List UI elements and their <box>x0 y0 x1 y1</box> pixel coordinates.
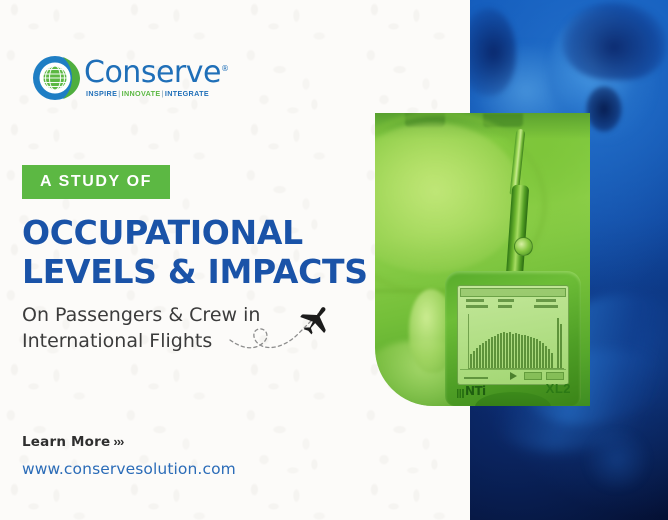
foreground-head-shape <box>470 8 516 96</box>
device-model-label: XL2 <box>546 381 571 396</box>
lcd-readout-text <box>498 305 512 308</box>
device-bottom-curve <box>475 392 551 406</box>
lcd-readout-text <box>498 299 514 302</box>
study-badge: A STUDY OF <box>22 165 170 199</box>
airplane-icon <box>296 299 336 340</box>
tagline-inspire: INSPIRE <box>86 89 117 98</box>
lcd-readout-text <box>466 299 484 302</box>
flight-path-decoration <box>228 296 348 362</box>
lcd-readout-text <box>534 305 558 308</box>
lcd-play-icon <box>510 372 517 380</box>
tagline-separator: | <box>161 89 163 98</box>
chevron-right-icon: ››› <box>113 434 123 449</box>
nti-logo-bars-icon <box>457 389 464 398</box>
tagline-innovate: INNOVATE <box>122 89 161 98</box>
brand-logo[interactable]: Conserve® INSPIRE|INNOVATE|INTEGRATE <box>32 52 208 104</box>
device-brand-label: NTi <box>465 384 486 398</box>
lcd-readout-text <box>466 305 488 308</box>
panel-glow <box>582 430 652 490</box>
passenger-hair-shape <box>562 2 666 80</box>
learn-more-row[interactable]: Learn More››› <box>22 433 236 451</box>
sound-level-meter-device: NTi XL2 <box>445 271 581 406</box>
page-title: OCCUPATIONAL LEVELS & IMPACTS <box>22 214 372 292</box>
lcd-status-text <box>464 377 488 380</box>
brand-tagline: INSPIRE|INNOVATE|INTEGRATE <box>86 89 209 98</box>
lcd-softkey <box>524 372 542 380</box>
device-brand-name: NTi <box>465 384 486 398</box>
sound-meter-photo: NTi XL2 <box>375 113 590 406</box>
tagline-integrate: INTEGRATE <box>165 89 209 98</box>
tagline-separator: | <box>118 89 120 98</box>
lcd-readout-text <box>536 299 556 302</box>
lcd-softkey <box>546 372 564 380</box>
microphone-collar <box>514 237 533 256</box>
learn-more-label: Learn More <box>22 434 110 450</box>
call-to-action[interactable]: Learn More››› www.conservesolution.com <box>22 433 236 478</box>
globe-leaf-logo-icon <box>32 54 82 102</box>
brand-name-text: Conserve <box>84 55 221 90</box>
poster-canvas: NTi XL2 <box>0 0 668 520</box>
brand-name: Conserve® <box>84 55 228 90</box>
headline-line-2: LEVELS & IMPACTS <box>22 253 372 292</box>
passenger-open-mouth-shape <box>586 86 622 132</box>
lcd-title-bar <box>460 288 566 297</box>
registered-mark: ® <box>221 64 229 73</box>
device-lcd-screen <box>457 285 569 385</box>
website-url[interactable]: www.conservesolution.com <box>22 460 236 478</box>
lcd-spectrum-plot <box>468 314 564 369</box>
headline-line-1: OCCUPATIONAL <box>22 214 372 253</box>
